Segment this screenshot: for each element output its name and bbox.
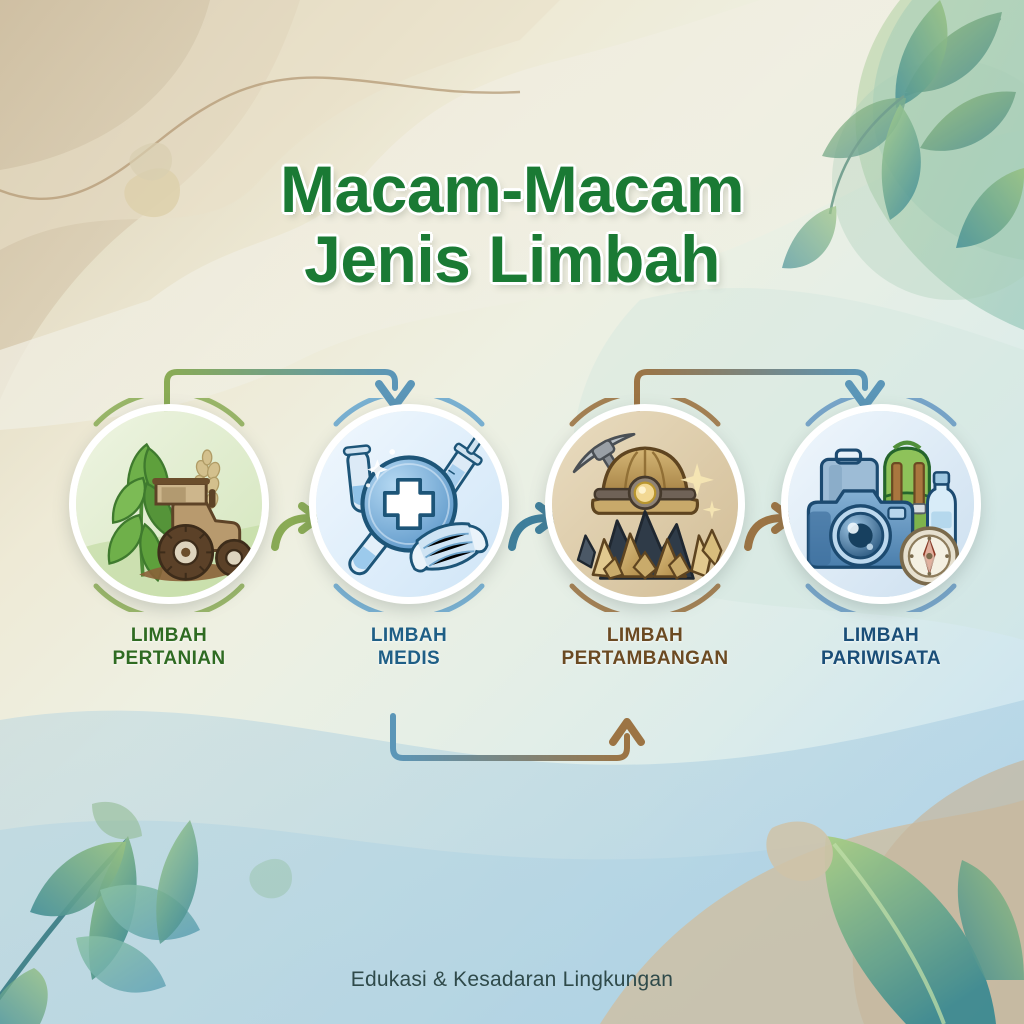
node-limbah-pertambangan[interactable]: LIMBAH PERTAMBANGAN	[524, 398, 766, 670]
node-limbah-pertanian[interactable]: LIMBAH PERTANIAN	[48, 398, 290, 670]
icon-disc-pertambangan[interactable]	[545, 404, 745, 604]
icon-disc-medis[interactable]	[309, 404, 509, 604]
title-line-1: Macam-Macam	[0, 155, 1024, 225]
title-line-2: Jenis Limbah	[0, 225, 1024, 295]
mining-helmet-ore-icon	[552, 411, 738, 597]
tractor-plant-icon	[76, 411, 262, 597]
page-title: Macam-Macam Jenis Limbah	[0, 155, 1024, 295]
waste-type-flow: LIMBAH PERTANIAN	[0, 398, 1024, 718]
arrow-bottom-span	[393, 716, 641, 758]
icon-disc-pariwisata[interactable]	[781, 404, 981, 604]
node-label-pertambangan: LIMBAH PERTAMBANGAN	[524, 624, 766, 670]
medical-cross-syringe-icon	[316, 411, 502, 597]
footer-caption: Edukasi & Kesadaran Lingkungan	[0, 968, 1024, 992]
node-limbah-pariwisata[interactable]: LIMBAH PARIWISATA	[760, 398, 1002, 670]
node-limbah-medis[interactable]: LIMBAH MEDIS	[288, 398, 530, 670]
node-label-pariwisata: LIMBAH PARIWISATA	[760, 624, 1002, 670]
node-label-medis: LIMBAH MEDIS	[288, 624, 530, 670]
camera-luggage-travel-icon	[788, 411, 974, 597]
infographic-poster: Macam-Macam Jenis Limbah	[0, 0, 1024, 1024]
icon-disc-pertanian[interactable]	[69, 404, 269, 604]
node-label-pertanian: LIMBAH PERTANIAN	[48, 624, 290, 670]
